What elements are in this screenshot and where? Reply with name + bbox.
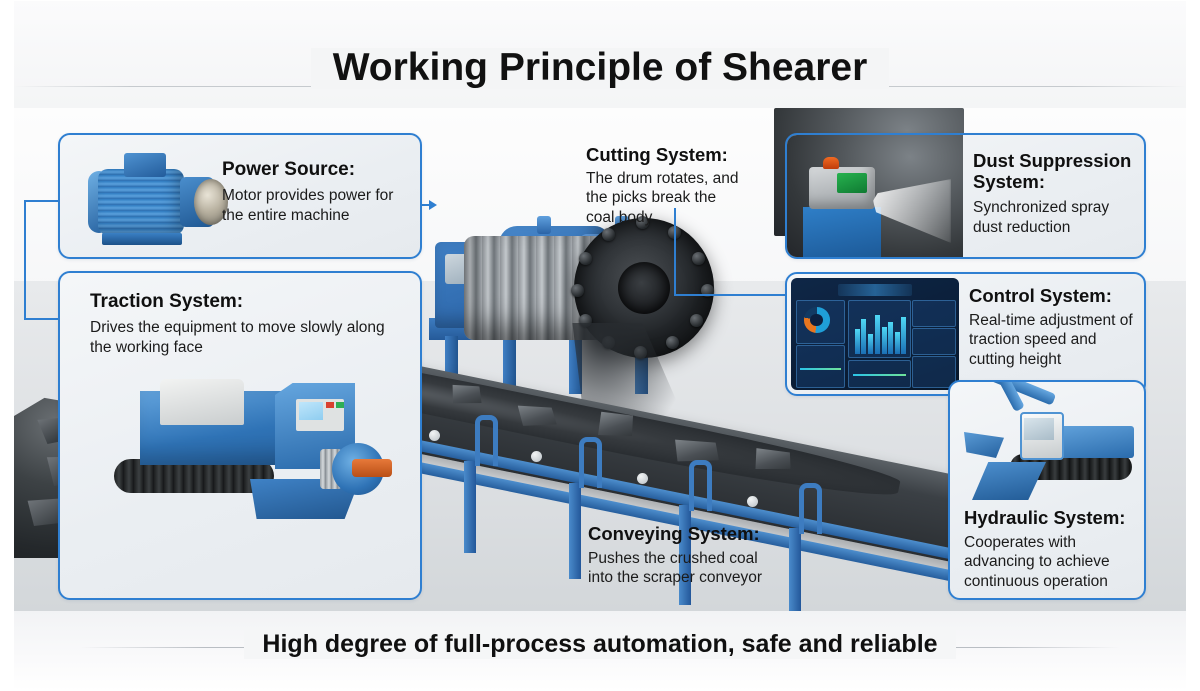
water-spray-jet: [873, 179, 951, 243]
excavator-cab-glass: [1024, 418, 1054, 440]
dashboard-widget-trend: [796, 345, 845, 387]
panel-dust-suppression[interactable]: Dust Suppression System: Synchronized sp…: [785, 133, 1146, 259]
dashboard-bar: [895, 332, 900, 354]
power-source-body: Motor provides power for the entire mach…: [222, 186, 408, 225]
crawler-screen: [299, 402, 323, 420]
dashboard-history-line: [853, 374, 906, 376]
sprayer-warning-lamp: [823, 157, 839, 169]
conveyor-guard-hoop: [689, 460, 712, 511]
excavator-dozer-blade: [972, 462, 1046, 500]
traction-machine-icon: [100, 373, 400, 533]
dashboard-widget-donut: [796, 300, 845, 343]
electric-motor-icon: [88, 151, 228, 257]
crawler-red-indicator: [326, 402, 334, 408]
dashboard-bar: [868, 334, 873, 354]
dashboard-title-bar: [838, 284, 912, 296]
header-band: Working Principle of Shearer: [0, 0, 1200, 108]
conveyor-post: [569, 483, 581, 579]
dust-suppression-body: Synchronized spray dust reduction: [973, 198, 1135, 237]
scada-dashboard-icon: [791, 278, 959, 390]
drum-pick: [571, 284, 584, 297]
dashboard-bar: [855, 329, 860, 354]
label-conveying-system: Conveying System: Pushes the crushed coa…: [588, 524, 818, 588]
dashboard-widget-dials: [912, 328, 956, 355]
sprayer-display: [837, 173, 867, 193]
conveying-system-body-line1: Pushes the crushed coal: [588, 549, 818, 569]
conveyor-post: [464, 461, 476, 553]
cutting-system-heading: Cutting System:: [586, 145, 766, 166]
cutting-system-body-line2: the picks break the: [586, 188, 766, 208]
connector-arrow-cutting: [429, 200, 437, 210]
control-system-heading: Control System:: [969, 286, 1139, 307]
conveyor-roller: [637, 473, 648, 484]
right-gutter: [1186, 0, 1200, 691]
excavator-bucket: [964, 432, 1004, 458]
traction-system-body: Drives the equipment to move slowly alon…: [90, 318, 400, 357]
control-system-body: Real-time adjustment of traction speed a…: [969, 311, 1139, 370]
dashboard-bar: [875, 315, 880, 354]
conveyor-roller: [747, 496, 758, 507]
dashboard-donut-chart: [804, 307, 830, 333]
spray-dust-suppressor-icon: [797, 145, 947, 257]
drum-pick: [602, 228, 615, 241]
drum-pick: [579, 252, 592, 265]
motor-terminal-box: [124, 153, 166, 177]
conveying-system-body-line2: into the scraper conveyor: [588, 568, 818, 588]
dashboard-bar: [901, 317, 906, 354]
dashboard-bar: [861, 319, 866, 354]
drum-pick: [692, 252, 705, 265]
panel-traction-system[interactable]: Traction System: Drives the equipment to…: [58, 271, 422, 600]
dashboard-widget-gauge: [912, 300, 956, 327]
left-gutter: [0, 0, 14, 691]
crawler-drive-rod: [352, 459, 392, 477]
dashboard-bar: [882, 327, 887, 354]
hydraulic-system-heading: Hydraulic System:: [964, 508, 1136, 529]
panel-power-source[interactable]: Power Source: Motor provides power for t…: [58, 133, 422, 259]
cutting-system-body-line3: coal body: [586, 208, 766, 228]
footer-band: High degree of full-process automation, …: [0, 611, 1200, 691]
conveyor-roller: [429, 430, 440, 441]
cutting-system-body-line1: The drum rotates, and: [586, 169, 766, 189]
dust-suppression-photo: [787, 135, 963, 257]
dashboard-widget-history: [848, 360, 910, 388]
page-title-text: Working Principle of Shearer: [311, 48, 890, 89]
dashboard-screen: [791, 278, 959, 390]
dashboard-bar: [888, 322, 893, 354]
shearer-stack: [537, 216, 551, 234]
dust-suppression-heading-line1: Dust Suppression: [973, 151, 1135, 172]
conveyor-guard-hoop: [579, 437, 602, 488]
traction-system-heading: Traction System:: [90, 291, 400, 312]
sprayer-pedestal: [803, 207, 881, 257]
panel-hydraulic-system[interactable]: Hydraulic System: Cooperates with advanc…: [948, 380, 1146, 600]
label-cutting-system: Cutting System: The drum rotates, and th…: [586, 145, 766, 227]
connector-line-power: [24, 200, 26, 320]
panel-control-system[interactable]: Control System: Real-time adjustment of …: [785, 272, 1146, 396]
motor-housing: [98, 169, 184, 235]
drum-hub-hole: [618, 262, 670, 314]
hydraulic-system-body: Cooperates with advancing to achieve con…: [964, 533, 1136, 592]
conveyor-guard-hoop: [475, 415, 498, 466]
dashboard-widget-table: [912, 356, 956, 387]
dashboard-widget-bars: [848, 300, 910, 358]
footer-tagline: High degree of full-process automation, …: [0, 629, 1200, 659]
page-title: Working Principle of Shearer: [0, 48, 1200, 89]
crawler-canopy: [160, 379, 244, 425]
infographic-canvas: Working Principle of Shearer: [0, 0, 1200, 691]
footer-tagline-text: High degree of full-process automation, …: [244, 629, 955, 659]
power-source-heading: Power Source:: [222, 159, 408, 180]
hydraulic-excavator-icon: [958, 388, 1146, 500]
dust-suppression-heading-line2: System:: [973, 172, 1135, 193]
crawler-green-indicator: [336, 402, 344, 408]
conveying-system-heading: Conveying System:: [588, 524, 818, 545]
motor-base-foot: [102, 233, 182, 245]
conveyor-roller: [531, 451, 542, 462]
dashboard-trend-line: [800, 368, 841, 370]
